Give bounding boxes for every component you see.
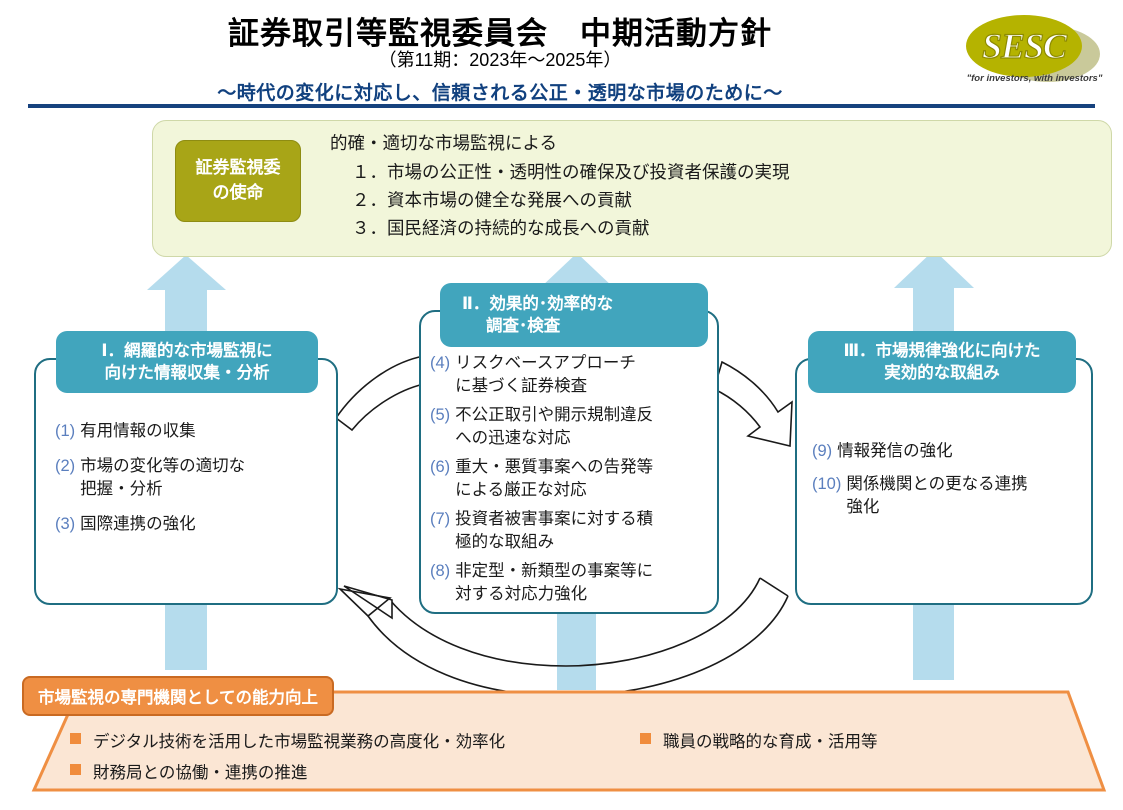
pillar-2-item-1: (4) リスクベースアプローチ に基づく証券検査 bbox=[430, 352, 710, 398]
pillar-1-heading-line-2: 向けた情報収集・分析 bbox=[56, 362, 318, 384]
pillar-1-item-3-text: 国際連携の強化 bbox=[80, 513, 196, 536]
capability-item-3: 財務局との協働・連携の推進 bbox=[70, 759, 630, 783]
pillar-2-item-1-number: (4) bbox=[430, 352, 450, 398]
pillar-1-item-3-number: (3) bbox=[55, 513, 75, 536]
pillar-3-item-1-number: (9) bbox=[812, 440, 832, 463]
pillar-1-item-2-number: (2) bbox=[55, 455, 75, 501]
pillar-3-heading-line-2: 実効的な取組み bbox=[808, 362, 1076, 384]
pillar-3-heading: Ⅲ．市場規律強化に向けた 実効的な取組み bbox=[808, 331, 1076, 393]
pillar-3-item-2-text: 関係機関との更なる連携 強化 bbox=[846, 473, 1027, 519]
pillar-2-item-2: (5) 不公正取引や開示規制違反 への迅速な対応 bbox=[430, 404, 710, 450]
pillar-2-item-4-text: 投資者被害事案に対する積 極的な取組み bbox=[455, 508, 653, 554]
pillar-2-item-5: (8) 非定型・新類型の事案等に 対する対応力強化 bbox=[430, 560, 710, 606]
pillar-2-item-4: (7) 投資者被害事案に対する積 極的な取組み bbox=[430, 508, 710, 554]
pillar-3-item-2: (10) 関係機関との更なる連携 強化 bbox=[812, 473, 1084, 519]
pillar-1-item-1-text: 有用情報の収集 bbox=[80, 420, 196, 443]
pillar-2-item-4-number: (7) bbox=[430, 508, 450, 554]
bullet-square-icon bbox=[70, 733, 81, 744]
pillar-2-item-2-text: 不公正取引や開示規制違反 への迅速な対応 bbox=[455, 404, 653, 450]
bullet-square-icon bbox=[70, 764, 81, 775]
capability-item-3-text: 財務局との協働・連携の推進 bbox=[93, 759, 307, 783]
pillar-2-item-2-number: (5) bbox=[430, 404, 450, 450]
pillar-2-item-5-number: (8) bbox=[430, 560, 450, 606]
capability-item-1-text: デジタル技術を活用した市場監視業務の高度化・効率化 bbox=[93, 728, 505, 752]
pillar-1-item-2: (2) 市場の変化等の適切な 把握・分析 bbox=[55, 455, 325, 501]
pillar-2-item-3-text: 重大・悪質事案への告発等 による厳正な対応 bbox=[455, 456, 653, 502]
pillar-3-item-1-text: 情報発信の強化 bbox=[837, 440, 953, 463]
pillar-2-heading-line-2: 調査･検査 bbox=[462, 315, 560, 337]
pillar-1-item-2-text: 市場の変化等の適切な 把握・分析 bbox=[80, 455, 245, 501]
capability-item-1: デジタル技術を活用した市場監視業務の高度化・効率化 bbox=[70, 728, 630, 752]
slide-canvas: 証券取引等監視委員会 中期活動方針 （第11期：2023年～2025年） ～時代… bbox=[0, 0, 1123, 794]
pillar-3-item-1: (9) 情報発信の強化 bbox=[812, 440, 1084, 463]
pillar-1-heading-line-1: Ⅰ．網羅的な市場監視に bbox=[56, 340, 318, 362]
pillar-2-item-5-text: 非定型・新類型の事案等に 対する対応力強化 bbox=[455, 560, 653, 606]
capability-item-2-text: 職員の戦略的な育成・活用等 bbox=[663, 728, 878, 752]
capability-item-2: 職員の戦略的な育成・活用等 bbox=[640, 728, 1060, 752]
pillar-1-item-1: (1) 有用情報の収集 bbox=[55, 420, 325, 443]
pillar-2-heading: Ⅱ．効果的･効率的な 調査･検査 bbox=[440, 283, 708, 347]
pillar-2-heading-line-1: Ⅱ．効果的･効率的な bbox=[462, 293, 613, 315]
bullet-square-icon bbox=[640, 733, 651, 744]
pillar-1-item-3: (3) 国際連携の強化 bbox=[55, 513, 325, 536]
pillar-2-item-3: (6) 重大・悪質事案への告発等 による厳正な対応 bbox=[430, 456, 710, 502]
pillar-3-item-2-number: (10) bbox=[812, 473, 841, 519]
pillar-1-heading: Ⅰ．網羅的な市場監視に 向けた情報収集・分析 bbox=[56, 331, 318, 393]
capability-label: 市場監視の専門機関としての能力向上 bbox=[22, 676, 334, 716]
pillar-2-item-3-number: (6) bbox=[430, 456, 450, 502]
pillar-3-heading-line-1: Ⅲ．市場規律強化に向けた bbox=[808, 340, 1076, 362]
pillar-2-item-1-text: リスクベースアプローチ に基づく証券検査 bbox=[455, 352, 636, 398]
pillar-1-item-1-number: (1) bbox=[55, 420, 75, 443]
